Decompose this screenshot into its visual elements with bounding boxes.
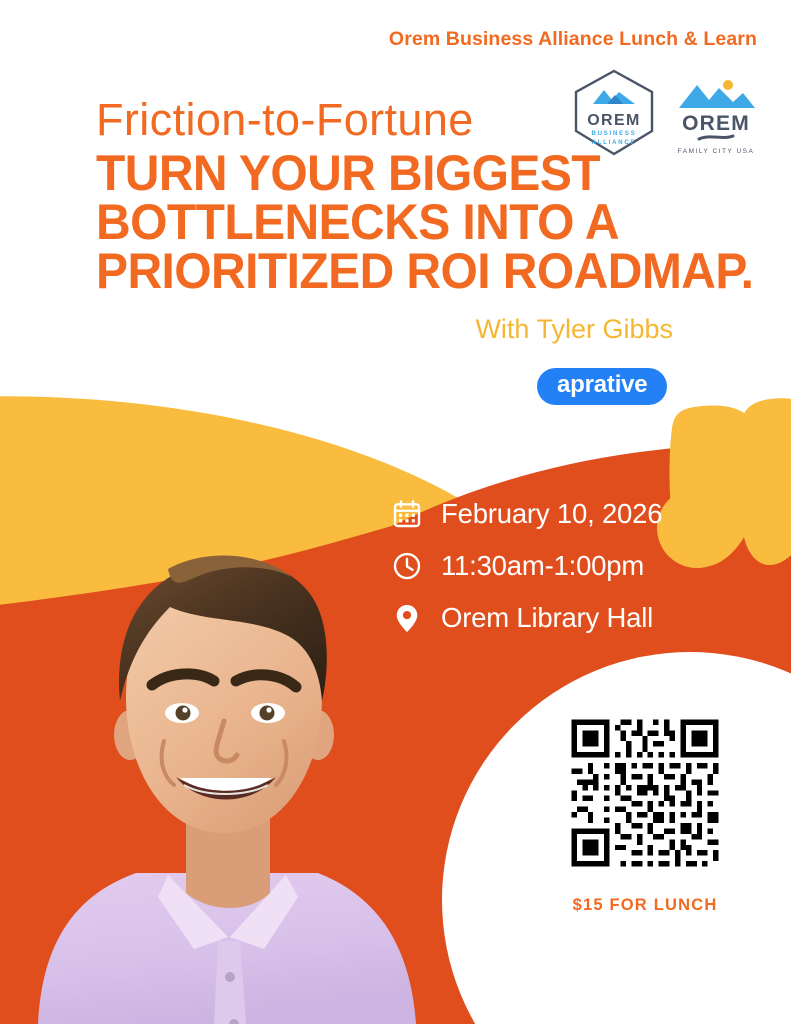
event-flyer: Orem Business Alliance Lunch & Learn ORE… bbox=[0, 0, 791, 1024]
headline-line-1: TURN YOUR BIGGEST bbox=[96, 149, 672, 198]
qr-block: $15 FOR LUNCH bbox=[566, 714, 724, 915]
speaker-portrait-illustration bbox=[18, 545, 438, 1024]
headline-line-2: BOTTLENECKS INTO A bbox=[96, 198, 672, 247]
headline-line-3: PRIORITIZED ROI ROADMAP. bbox=[96, 247, 672, 296]
eyebrow-title: Orem Business Alliance Lunch & Learn bbox=[0, 28, 757, 51]
detail-text-time: 11:30am-1:00pm bbox=[441, 550, 644, 582]
yellow-circle-accent bbox=[657, 488, 737, 568]
speaker-photo bbox=[18, 545, 438, 1024]
detail-text-location: Orem Library Hall bbox=[441, 602, 653, 634]
detail-row-date: February 10, 2026 bbox=[392, 498, 662, 530]
speaker-name: With Tyler Gibbs bbox=[0, 314, 673, 345]
headline-block: Friction-to-Fortune TURN YOUR BIGGEST BO… bbox=[96, 96, 696, 296]
main-headline: TURN YOUR BIGGEST BOTTLENECKS INTO A PRI… bbox=[96, 149, 672, 296]
calendar-icon bbox=[392, 499, 422, 529]
detail-text-date: February 10, 2026 bbox=[441, 498, 662, 530]
kicker-title: Friction-to-Fortune bbox=[96, 96, 696, 145]
qr-caption: $15 FOR LUNCH bbox=[566, 896, 724, 915]
yellow-wave-right bbox=[739, 398, 791, 565]
qr-code[interactable] bbox=[566, 714, 724, 872]
aprative-brand-badge: aprative bbox=[537, 368, 667, 405]
